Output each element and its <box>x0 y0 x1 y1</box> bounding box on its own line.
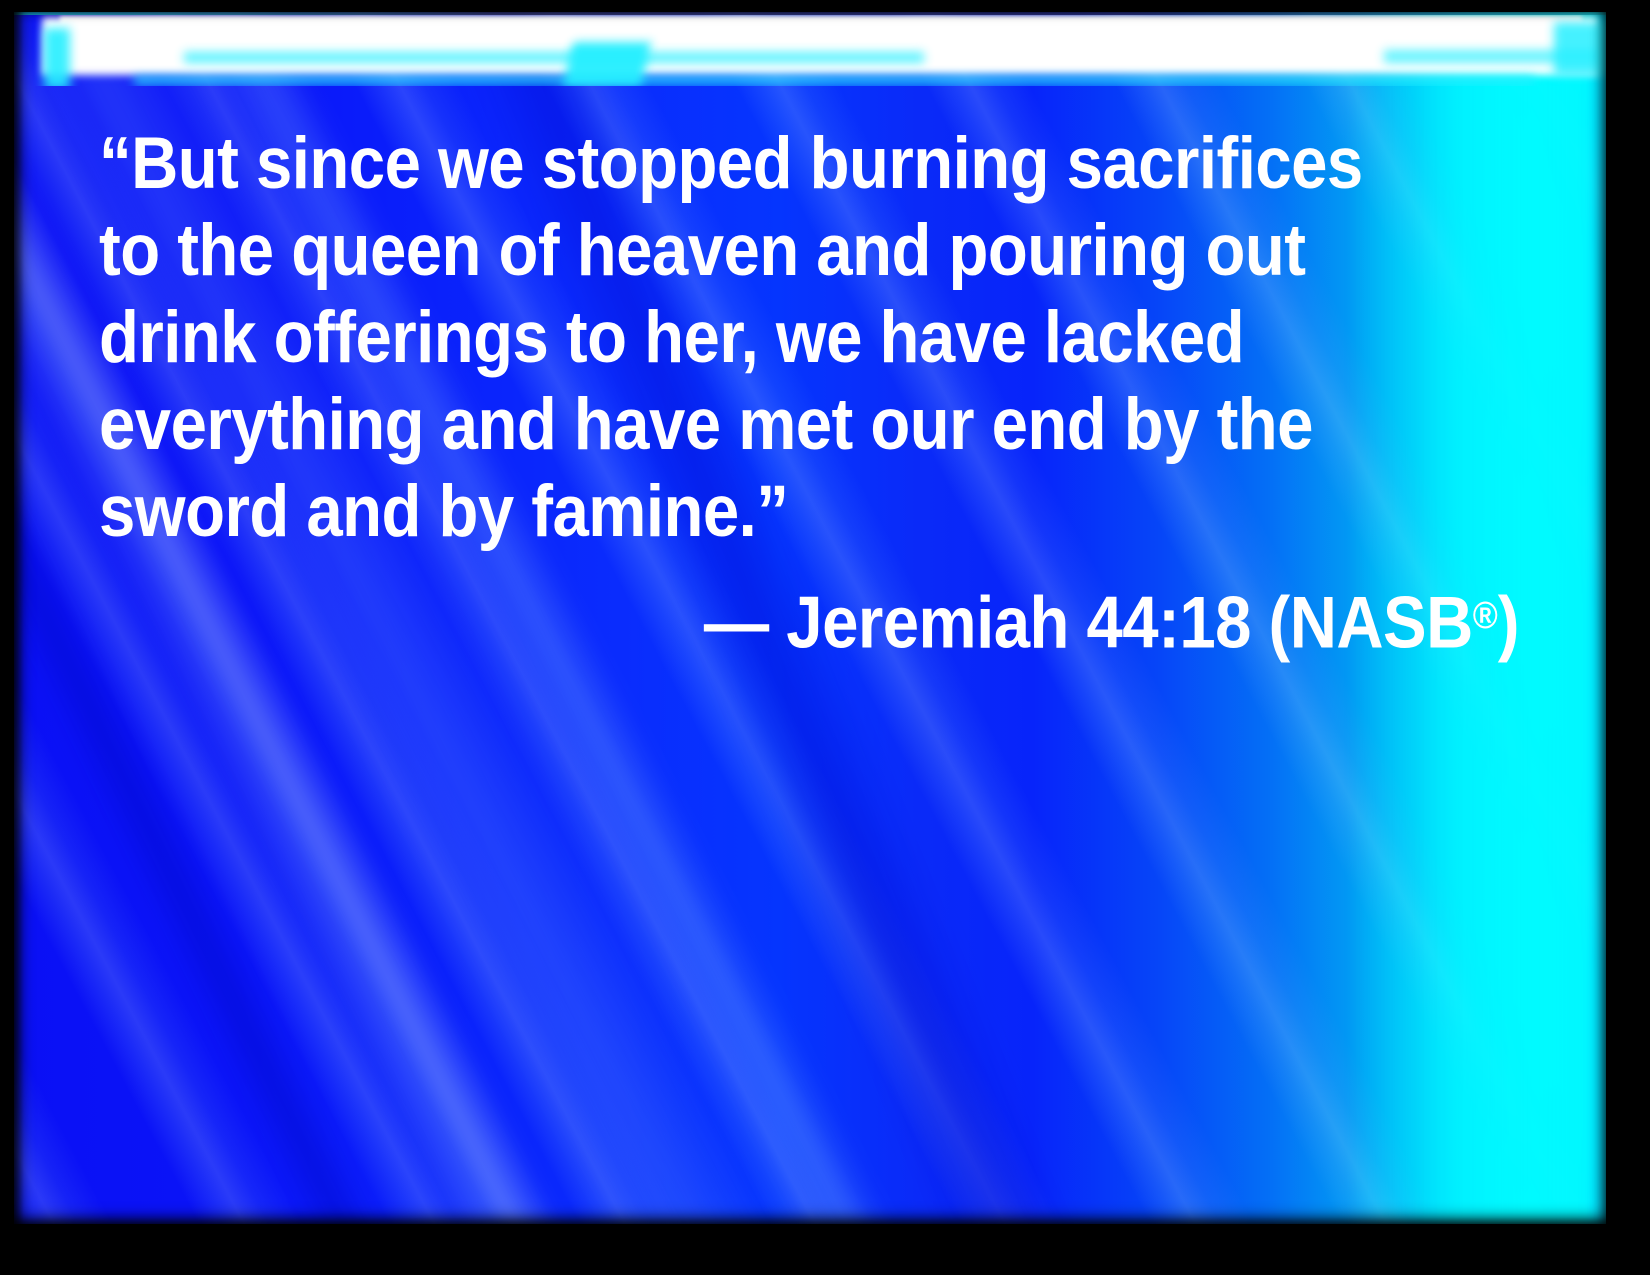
verse-line-4: everything and have met our end by the <box>99 381 1370 468</box>
verse-line-5: sword and by famine.” <box>99 468 1370 555</box>
verse-line-3: drink offerings to her, we have lacked <box>99 294 1370 381</box>
top-band-cyan-wisp-corner-left <box>44 28 70 86</box>
top-white-highlight-band <box>14 12 1606 86</box>
attribution-suffix: ) <box>1498 583 1519 664</box>
top-band-cyan-wisp-base <box>134 76 1534 85</box>
slide-background-stage: “But since we stopped burning sacrifices… <box>14 12 1606 1224</box>
top-band-edge-line <box>14 12 1606 15</box>
top-band-cyan-wisp-left <box>184 52 924 63</box>
verse-attribution: — Jeremiah 44:18 (NASB®) <box>248 573 1519 667</box>
top-band-cyan-wisp-corner-right <box>1554 22 1606 76</box>
verse-line-2: to the queen of heaven and pouring out <box>99 207 1370 294</box>
slide-frame: “But since we stopped burning sacrifices… <box>0 0 1650 1275</box>
registered-trademark-icon: ® <box>1473 595 1498 637</box>
verse-block: “But since we stopped burning sacrifices… <box>99 120 1519 667</box>
verse-line-1: “But since we stopped burning sacrifices <box>99 120 1370 207</box>
attribution-prefix: — Jeremiah 44:18 (NASB <box>704 583 1473 664</box>
top-band-cyan-wisp-center <box>563 42 650 86</box>
